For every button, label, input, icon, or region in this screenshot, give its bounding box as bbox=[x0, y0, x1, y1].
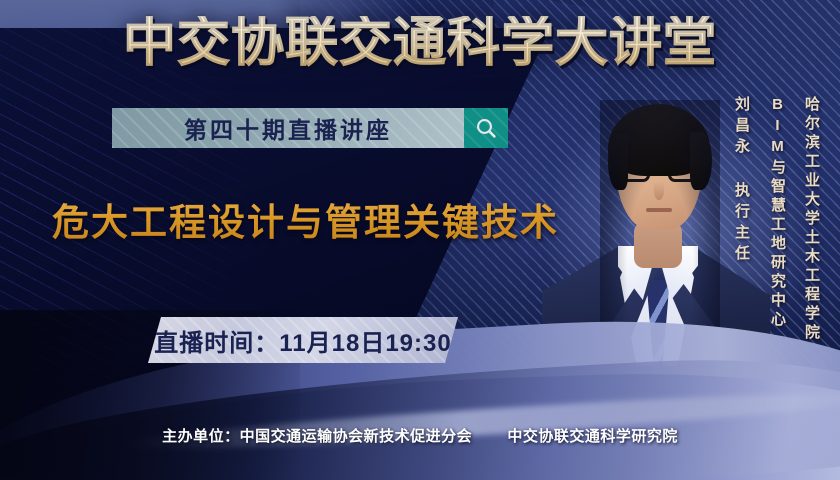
speaker-name-role: 刘昌永 执行主任 bbox=[731, 96, 752, 266]
page-title: 中交协联交通科学大讲堂 bbox=[0, 16, 840, 69]
footer: 主办单位：中国交通运输协会新技术促进分会 中交协联交通科学研究院 bbox=[0, 425, 840, 446]
speaker-mouth bbox=[646, 208, 672, 212]
speaker-hair-left bbox=[608, 134, 628, 190]
search-button[interactable] bbox=[464, 108, 508, 148]
footer-organizer: 主办单位：中国交通运输协会新技术促进分会 bbox=[162, 428, 472, 445]
episode-bar: 第四十期直播讲座 bbox=[112, 108, 508, 148]
speaker-nose bbox=[654, 182, 664, 200]
live-time-text: 直播时间：11月18日19:30 bbox=[154, 323, 451, 358]
episode-label: 第四十期直播讲座 bbox=[184, 111, 392, 145]
speaker-organization: 哈尔滨工业大学土木工程学院 bbox=[801, 96, 822, 343]
search-icon bbox=[474, 116, 498, 140]
live-time-banner: 直播时间：11月18日19:30 bbox=[148, 317, 458, 363]
speaker-hair-right bbox=[690, 132, 712, 190]
lecture-title: 危大工程设计与管理关键技术 bbox=[52, 192, 559, 246]
episode-label-panel: 第四十期直播讲座 bbox=[112, 108, 464, 148]
footer-co-organizer: 中交协联交通科学研究院 bbox=[507, 428, 678, 445]
poster-canvas: 中交协联交通科学大讲堂 第四十期直播讲座 危大工程设计与管理关键技术 直播时间：… bbox=[0, 0, 840, 480]
speaker-research-center: BIM与智慧工地研究中心 bbox=[767, 96, 788, 330]
